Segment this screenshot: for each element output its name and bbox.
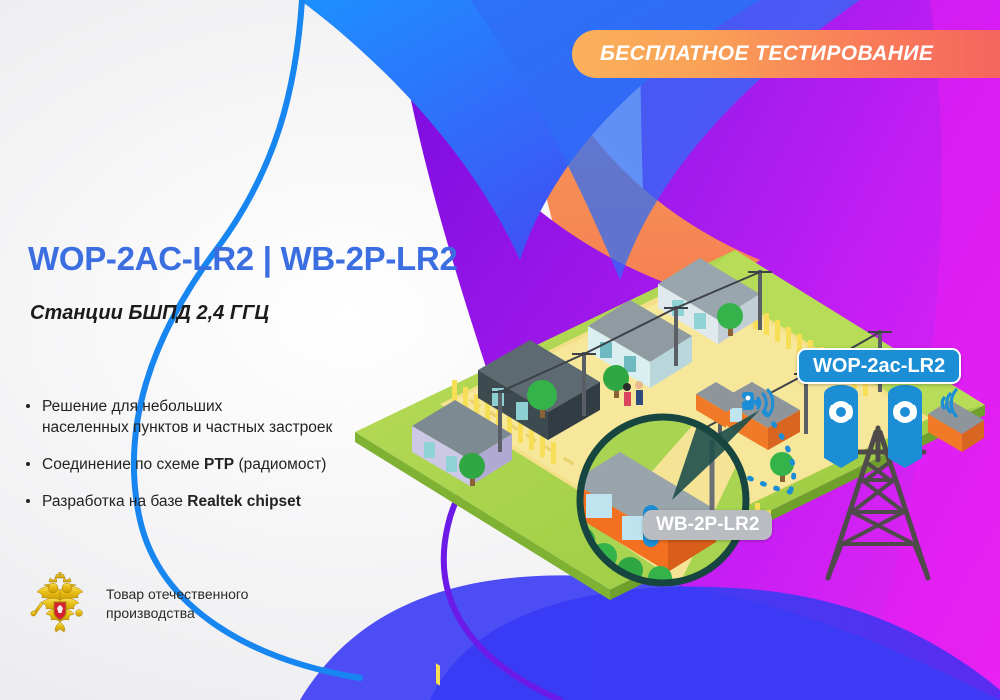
- badge-wb-2p-lr2[interactable]: WB-2P-LR2: [643, 510, 772, 540]
- ribbon-label: БЕСПЛАТНОЕ ТЕСТИРОВАНИЕ: [600, 42, 933, 66]
- emblem-line-2: производства: [106, 604, 248, 623]
- feature-list: Решение для небольших населенных пунктов…: [24, 396, 444, 528]
- emblem-line-1: Товар отечественного: [106, 585, 248, 604]
- badge-wop-2ac-lr2[interactable]: WOP-2ac-LR2: [797, 348, 961, 384]
- sector-antenna-right: [888, 385, 922, 468]
- feature-3-bold: Realtek chipset: [187, 493, 301, 510]
- domestic-product-mark: Товар отечественного производства: [28, 572, 248, 636]
- feature-1-line-1: Решение для небольших: [42, 398, 222, 415]
- list-item: Разработка на базе Realtek chipset: [24, 491, 444, 512]
- fence-upper: [436, 663, 440, 685]
- feature-2-prefix: Соединение по схеме: [42, 456, 204, 473]
- free-testing-ribbon[interactable]: БЕСПЛАТНОЕ ТЕСТИРОВАНИЕ: [572, 30, 1000, 78]
- badge-wop-label: WOP-2ac-LR2: [813, 355, 945, 378]
- promo-banner: БЕСПЛАТНОЕ ТЕСТИРОВАНИЕ WOP-2AC-LR2 | WB…: [0, 0, 1000, 700]
- shield: [54, 602, 66, 620]
- feature-2-bold: PTP: [204, 456, 234, 473]
- domestic-product-text: Товар отечественного производства: [106, 585, 248, 623]
- feature-1-line-2: населенных пунктов и частных застроек: [42, 419, 332, 436]
- page-title: WOP-2AC-LR2 | WB-2P-LR2: [28, 240, 458, 278]
- list-item: Соединение по схеме PTP (радиомост): [24, 454, 444, 475]
- page-subtitle: Станции БШПД 2,4 ГГЦ: [30, 302, 269, 325]
- list-item: Решение для небольших населенных пунктов…: [24, 396, 444, 438]
- russian-coat-of-arms-icon: [28, 572, 92, 636]
- feature-3-prefix: Разработка на базе: [42, 493, 187, 510]
- badge-wb-label: WB-2P-LR2: [656, 514, 759, 536]
- feature-2-suffix: (радиомост): [234, 456, 326, 473]
- sector-antenna-left: [824, 385, 858, 468]
